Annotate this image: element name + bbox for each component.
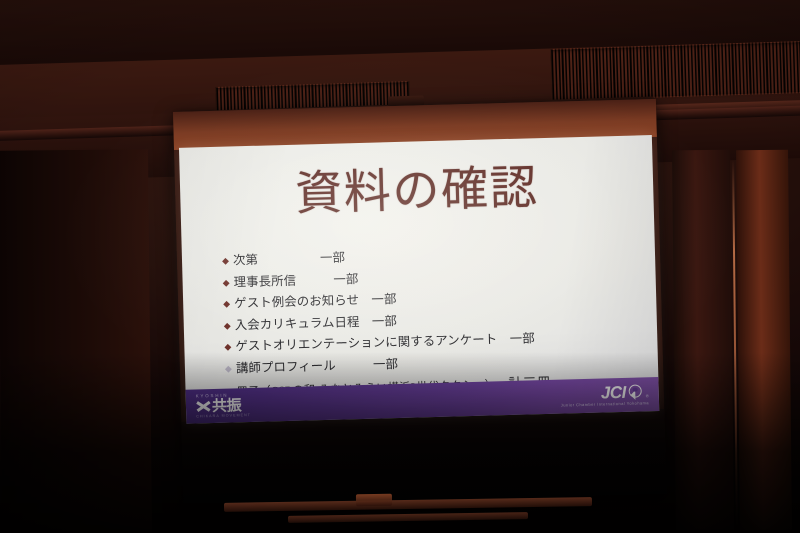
bullet-quantity: 一部 [372, 311, 398, 332]
bullet-label: 次第 [233, 250, 259, 271]
bullet-label: ゲスト例会のお知らせ [234, 290, 359, 313]
diamond-bullet-icon: ◆ [223, 300, 234, 309]
auditorium-scene: 資料の確認 ◆次第 一部◆理事長所信 一部◆ゲスト例会のお知らせ 一部◆入会カリ… [0, 0, 800, 533]
bullet-label: 入会カリキュラム日程 [235, 312, 360, 335]
bullet-quantity: 一部 [371, 289, 397, 310]
bullet-quantity: 一部 [509, 329, 535, 350]
diamond-bullet-icon: ◆ [222, 256, 233, 265]
ventilation-grille-right [550, 41, 800, 101]
screen-bottom-clip [356, 494, 392, 507]
diamond-bullet-icon: ◆ [224, 343, 235, 352]
slide-title: 資料の確認 [180, 161, 654, 223]
bullet-quantity: 一部 [320, 247, 346, 268]
diamond-bullet-icon: ◆ [223, 278, 234, 287]
diamond-bullet-icon: ◆ [224, 321, 235, 330]
bullet-quantity: 一部 [333, 269, 359, 290]
bullet-spacer [359, 311, 372, 331]
bullet-spacer [497, 329, 510, 349]
bullet-spacer [296, 269, 334, 290]
bullet-label: 理事長所信 [233, 270, 296, 292]
bullet-spacer [359, 290, 372, 310]
bullet-spacer [258, 248, 320, 270]
